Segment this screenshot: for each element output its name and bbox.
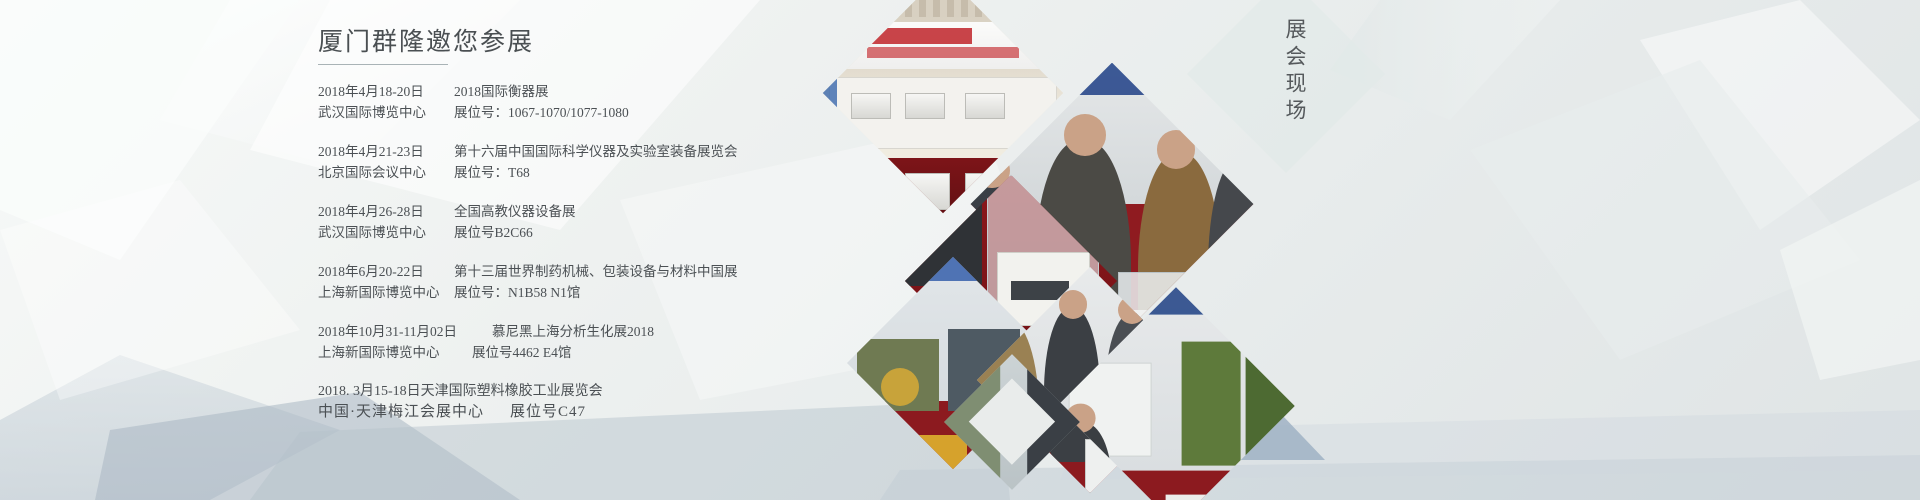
entry-name: 全国高教仪器设备展 — [440, 201, 576, 222]
entry-name: 2018国际衡器展 — [440, 81, 549, 102]
entry-venue: 武汉国际博览中心 — [318, 102, 440, 123]
entry-date: 2018年4月26-28日 — [318, 201, 440, 222]
vertical-caption: 展会现场 — [1268, 18, 1310, 126]
entry-date: 2018年6月20-22日 — [318, 261, 440, 282]
entry-date: 2018年10月31-11月02日 — [318, 321, 478, 342]
entry-booth: 展位号：N1B58 N1馆 — [440, 282, 580, 303]
entry-booth: 展位号C47 — [484, 402, 586, 423]
entry-name: 第十三届世界制药机械、包装设备与材料中国展 — [440, 261, 738, 282]
entry-name: 慕尼黑上海分析生化展2018 — [478, 321, 654, 342]
entry-venue: 北京国际会议中心 — [318, 162, 440, 183]
entry-name: 第十六届中国国际科学仪器及实验室装备展览会 — [440, 141, 738, 162]
entry-venue: 上海新国际博览中心 — [318, 342, 440, 363]
entry-date: 2018年4月18-20日 — [318, 81, 440, 102]
poster-canvas: 厦门群隆邀您参展 2018年4月18-20日 2018国际衡器展 武汉国际博览中… — [0, 0, 1920, 500]
entry-venue: 中国·天津梅江会展中心 — [318, 402, 484, 423]
entry-date: 2018年4月21-23日 — [318, 141, 440, 162]
entry-venue: 上海新国际博览中心 — [318, 282, 440, 303]
entry-booth: 展位号：1067-1070/1077-1080 — [440, 102, 629, 123]
entry-date: 2018. 3月15-18日天津国际塑料橡胶工业展览会 — [318, 381, 603, 402]
entry-booth: 展位号：T68 — [440, 162, 530, 183]
title-underline-rule — [318, 64, 448, 65]
entry-booth: 展位号B2C66 — [440, 222, 533, 243]
entry-venue: 武汉国际博览中心 — [318, 222, 440, 243]
entry-booth: 展位号4462 E4馆 — [440, 342, 571, 363]
photo-collage — [830, 0, 1230, 500]
